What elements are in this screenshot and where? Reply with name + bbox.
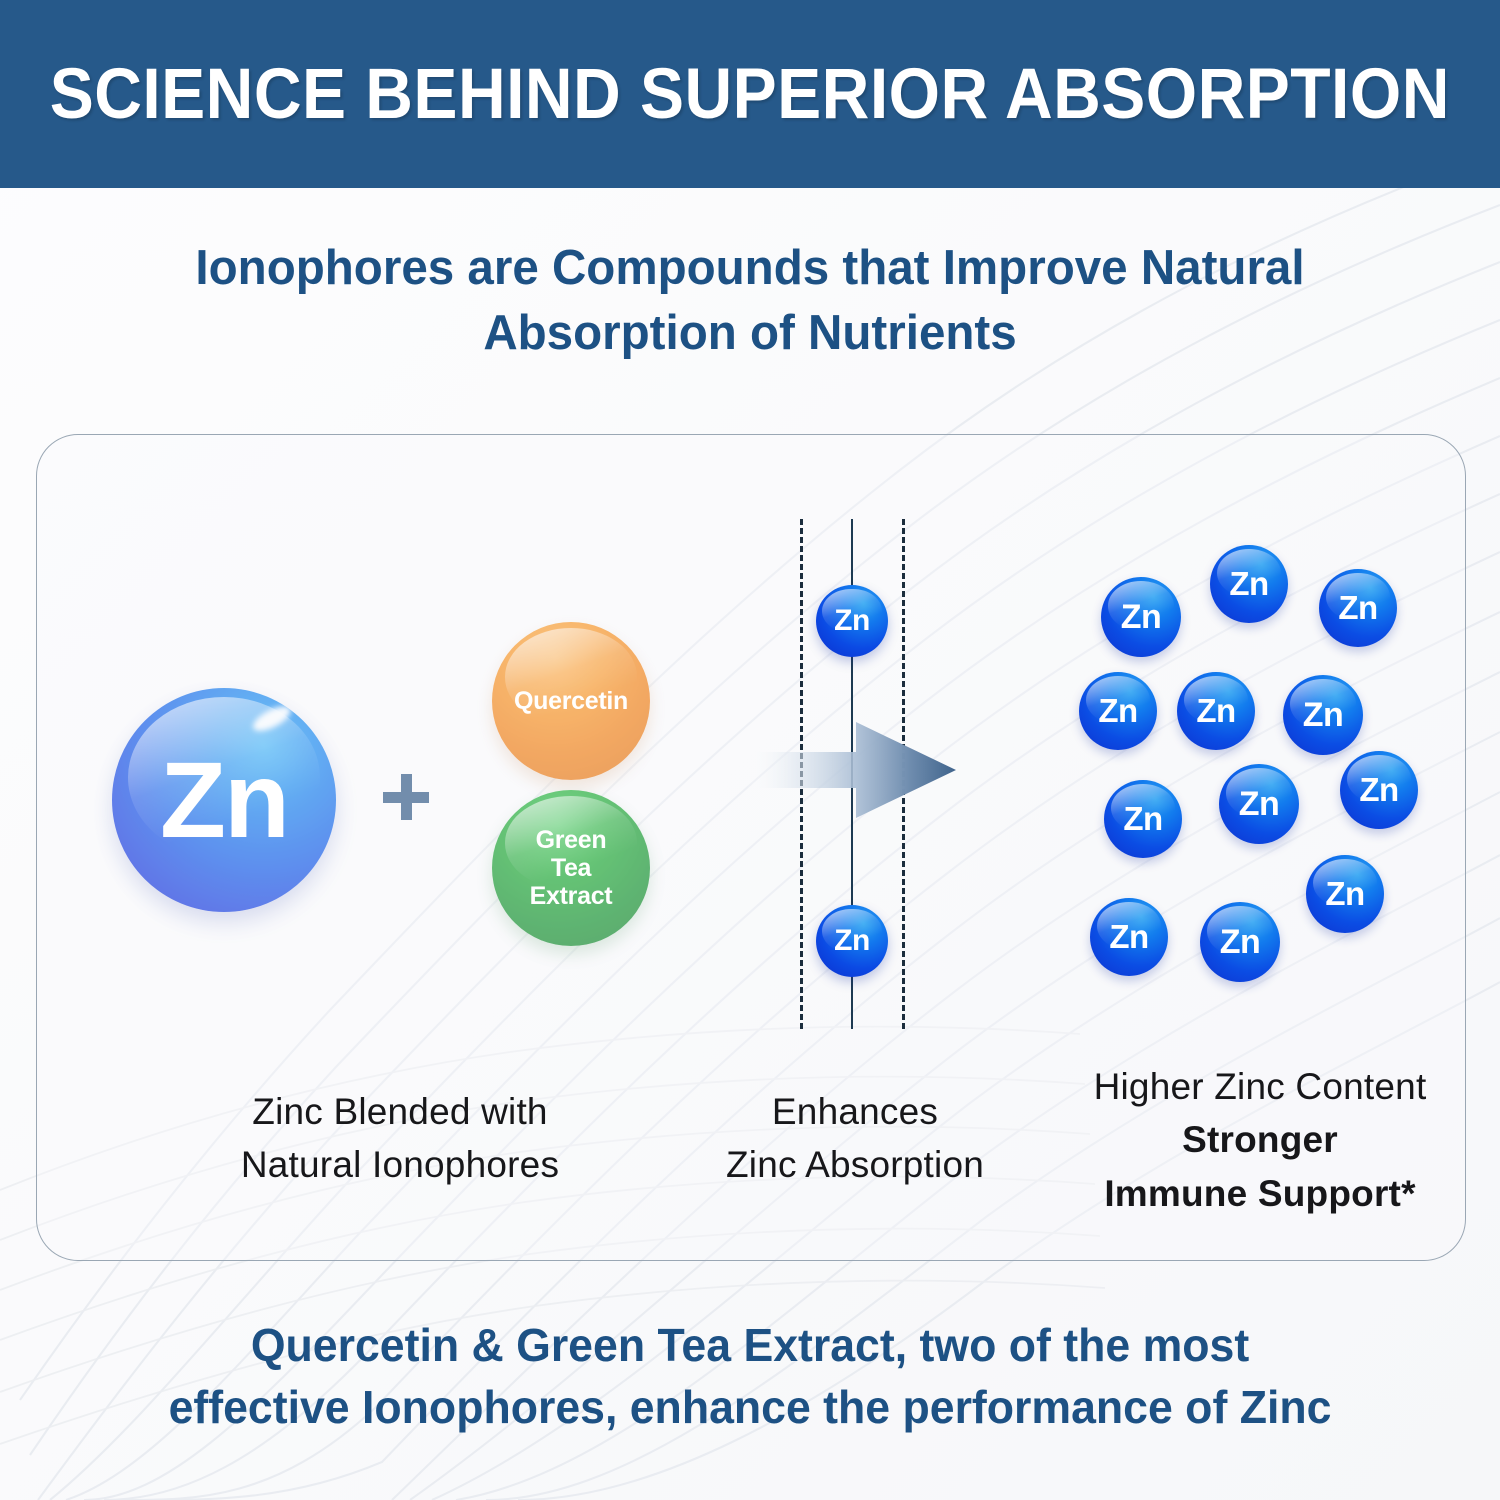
green-tea-extract-label: Green Tea Extract xyxy=(530,826,613,910)
zinc-cluster-sphere: Zn xyxy=(1340,751,1418,829)
zinc-cluster-label: Zn xyxy=(1123,801,1162,838)
zinc-cluster-label: Zn xyxy=(1121,598,1162,636)
green-tea-line-2: Tea xyxy=(551,854,591,882)
subtitle-line-2: Absorption of Nutrients xyxy=(23,301,1478,366)
zinc-cluster-sphere: Zn xyxy=(1319,569,1397,647)
zinc-cluster-sphere: Zn xyxy=(1090,898,1168,976)
zinc-membrane-sphere-bottom: Zn xyxy=(816,905,888,977)
zinc-cluster-label: Zn xyxy=(1303,696,1344,734)
zinc-cluster-label: Zn xyxy=(1109,919,1148,956)
zinc-membrane-top-label: Zn xyxy=(834,604,870,638)
green-tea-line-3: Extract xyxy=(530,882,613,910)
footer-statement: Quercetin & Green Tea Extract, two of th… xyxy=(23,1315,1478,1438)
zinc-membrane-sphere-top: Zn xyxy=(816,585,888,657)
caption-2-line-1: Enhances xyxy=(660,1085,1050,1138)
zinc-cluster-sphere: Zn xyxy=(1210,545,1288,623)
zinc-cluster-label: Zn xyxy=(1229,566,1268,603)
zinc-cluster-label: Zn xyxy=(1325,876,1364,913)
caption-stage-2: Enhances Zinc Absorption xyxy=(660,1085,1050,1192)
absorption-arrow-icon xyxy=(748,718,956,822)
footer-line-2: effective Ionophores, enhance the perfor… xyxy=(23,1377,1478,1439)
zinc-cluster-sphere: Zn xyxy=(1283,675,1363,755)
zinc-cluster-sphere: Zn xyxy=(1306,855,1384,933)
caption-3-line-3: Immune Support* xyxy=(1040,1167,1480,1220)
zinc-cluster-sphere: Zn xyxy=(1104,780,1182,858)
caption-2-line-2: Zinc Absorption xyxy=(660,1138,1050,1191)
zinc-cluster-sphere: Zn xyxy=(1219,764,1299,844)
zinc-membrane-bottom-label: Zn xyxy=(834,924,870,958)
zinc-main-label: Zn xyxy=(160,740,288,861)
header-banner: SCIENCE BEHIND SUPERIOR ABSORPTION xyxy=(0,0,1500,188)
page-title: SCIENCE BEHIND SUPERIOR ABSORPTION xyxy=(50,54,1450,135)
zinc-cluster-sphere: Zn xyxy=(1101,577,1181,657)
caption-stage-3: Higher Zinc Content Stronger Immune Supp… xyxy=(1040,1060,1480,1220)
subtitle-heading: Ionophores are Compounds that Improve Na… xyxy=(23,236,1478,365)
zinc-cluster-sphere: Zn xyxy=(1200,902,1280,982)
zinc-cluster-label: Zn xyxy=(1196,693,1235,730)
zinc-cluster-label: Zn xyxy=(1239,785,1280,823)
zinc-cluster-sphere: Zn xyxy=(1079,672,1157,750)
zinc-cluster-label: Zn xyxy=(1220,923,1261,961)
zinc-cluster-sphere: Zn xyxy=(1177,672,1255,750)
subtitle-line-1: Ionophores are Compounds that Improve Na… xyxy=(23,236,1478,301)
zinc-cluster-label: Zn xyxy=(1098,693,1137,730)
green-tea-line-1: Green xyxy=(536,826,607,854)
caption-1-line-1: Zinc Blended with xyxy=(150,1085,650,1138)
caption-3-line-2: Stronger xyxy=(1040,1113,1480,1166)
zinc-cluster-label: Zn xyxy=(1338,590,1377,627)
caption-3-line-1: Higher Zinc Content xyxy=(1040,1060,1480,1113)
zinc-cluster-label: Zn xyxy=(1359,772,1398,809)
footer-line-1: Quercetin & Green Tea Extract, two of th… xyxy=(23,1315,1478,1377)
caption-stage-1: Zinc Blended with Natural Ionophores xyxy=(150,1085,650,1192)
quercetin-label: Quercetin xyxy=(514,687,628,715)
caption-1-line-2: Natural Ionophores xyxy=(150,1138,650,1191)
